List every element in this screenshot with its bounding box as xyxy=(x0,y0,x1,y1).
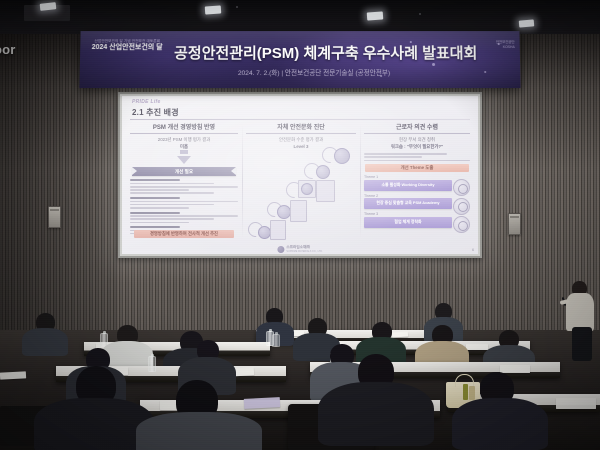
slide-column-1: PSM 개선 경영방침 반영 2023년 PSM 이행 평가 결과 미흡 개선 … xyxy=(130,122,238,240)
slide-title-rule xyxy=(130,119,470,120)
column-1-body xyxy=(130,179,238,234)
column-1-footer-bar: 경영방침에 반영하여 전사적 개선 추진 xyxy=(134,230,234,238)
column-3-lead2: 워크숍 : "무엇이 필요한가?" xyxy=(364,144,470,151)
ceiling-light xyxy=(205,5,222,14)
slide-company-logo: 스프라임소재㈜ SUPRIME MATERIALS CO., LTD. xyxy=(277,246,322,253)
presenter-legs xyxy=(572,327,592,361)
step-box-2 xyxy=(290,200,307,222)
column-divider xyxy=(242,124,243,238)
column-divider xyxy=(360,124,361,238)
banner-left-main: 2024 산업안전보건의 달 xyxy=(88,44,166,52)
logo-mark-icon xyxy=(277,246,284,253)
paper xyxy=(466,344,488,350)
ceiling-light xyxy=(519,19,535,27)
arrow-stem xyxy=(180,150,188,154)
column-1-lead2: 미흡 xyxy=(130,144,238,151)
step-circle-2 xyxy=(277,205,291,219)
step-box-3b xyxy=(316,180,335,202)
column-1-lead: 2023년 PSM 이행 평가 결과 xyxy=(130,137,238,144)
ceiling-sensor xyxy=(419,13,421,15)
watermark: oor xyxy=(0,42,16,57)
step-circle-3 xyxy=(301,183,313,195)
banner-left-top: 산업안전보건의 달 기념 안전보건 대토론회 xyxy=(88,39,166,43)
theme-1-box: 소통 활성화 Working Diversity xyxy=(364,180,452,191)
logo-subtext: SUPRIME MATERIALS CO., LTD. xyxy=(286,250,322,253)
ceiling-sensor xyxy=(236,6,238,8)
slide-column-3: 근로자 의견 수렴 현장 부서 의견 청취 워크숍 : "무엇이 필요한가?" … xyxy=(364,122,470,240)
theme-row-3: Theme 3 협업 체계 정착화 xyxy=(364,212,470,228)
column-3-header: 근로자 의견 수렴 xyxy=(364,122,470,134)
banner-right-logos: 안전보건공단 KOSHA xyxy=(496,40,515,50)
slide-eyebrow: PRIDE Life xyxy=(132,99,161,105)
step-circle-5 xyxy=(334,148,350,164)
conference-photo: PRIDE Life 2.1 추진 배경 PSM 개선 경영방침 반영 2023… xyxy=(0,0,600,450)
down-arrow-icon xyxy=(177,156,191,164)
banner-left-block: 산업안전보건의 달 기념 안전보건 대토론회 2024 산업안전보건의 달 xyxy=(88,39,166,52)
column-1-ribbon: 개선 필요 xyxy=(132,167,236,176)
maturity-staircase-diagram xyxy=(246,146,356,236)
column-3-bullets xyxy=(364,153,470,161)
column-1-header: PSM 개선 경영방침 반영 xyxy=(130,122,238,134)
banner-subtitle: 2024. 7. 2.(화) | 안전보건공단 전문기술실 (공정안전부) xyxy=(174,67,454,77)
banner-title: 공정안전관리(PSM) 체계구축 우수사례 발표대회 xyxy=(174,42,454,63)
water-bottle xyxy=(148,356,156,372)
banner-logo-2: KOSHA xyxy=(496,45,515,50)
tote-contents xyxy=(463,384,468,400)
projection-screen: PRIDE Life 2.1 추진 배경 PSM 개선 경영방침 반영 2023… xyxy=(118,92,482,258)
step-box-1 xyxy=(270,220,286,240)
theme-3-box: 협업 체계 정착화 xyxy=(364,217,452,228)
paper xyxy=(392,332,408,338)
paper xyxy=(0,371,26,379)
tote-contents xyxy=(469,386,475,400)
step-circle-4 xyxy=(316,165,330,179)
theme-1-tag: Theme 1 xyxy=(364,175,452,179)
ceiling-light xyxy=(367,11,384,20)
paper xyxy=(556,398,596,409)
slide-page-number: 6 xyxy=(472,248,474,252)
theme-2-tag: Theme 2 xyxy=(364,194,452,198)
theme-2-box: 현장 중심 맞춤형 교육 PSM Academy xyxy=(364,198,452,209)
event-banner: 산업안전보건의 달 기념 안전보건 대토론회 2024 산업안전보건의 달 공정… xyxy=(79,31,520,88)
slide-column-2: 자체 안전문화 진단 안전문화 수준 평가 결과 Level 3 xyxy=(246,122,356,240)
theme-row-1: Theme 1 소통 활성화 Working Diversity xyxy=(364,175,470,191)
light-switch-right[interactable] xyxy=(508,213,521,235)
gear-icon xyxy=(453,216,470,233)
column-2-header: 자체 안전문화 진단 xyxy=(246,122,356,134)
theme-header-bar: 개선 Theme 도출 xyxy=(365,164,469,172)
theme-3-tag: Theme 3 xyxy=(364,212,452,216)
handout xyxy=(244,397,280,409)
water-bottle xyxy=(272,334,280,347)
theme-row-2: Theme 2 현장 중심 맞춤형 교육 PSM Academy xyxy=(364,194,470,210)
presentation-slide: PRIDE Life 2.1 추진 배경 PSM 개선 경영방침 반영 2023… xyxy=(122,96,478,254)
paper xyxy=(500,365,530,373)
column-3-lead: 현장 부서 의견 청취 xyxy=(364,137,470,144)
light-switch-left[interactable] xyxy=(48,206,61,228)
slide-title: 2.1 추진 배경 xyxy=(132,107,179,118)
column-2-lead: 안전문화 수준 평가 결과 xyxy=(246,137,356,144)
